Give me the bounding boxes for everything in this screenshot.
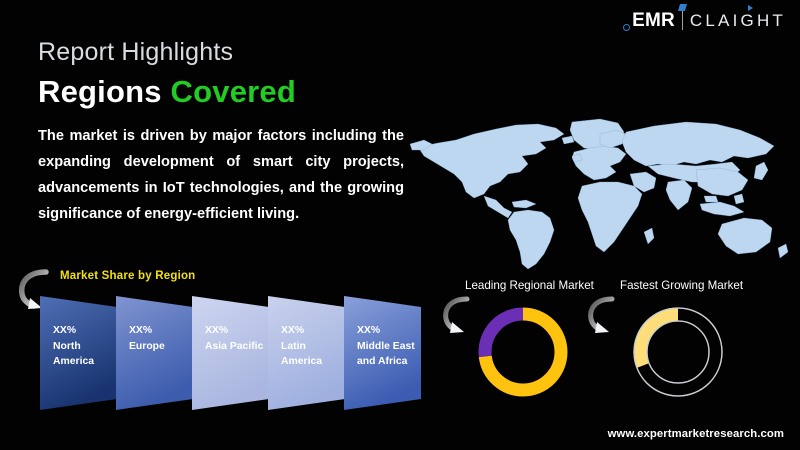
brand-logo: EMR CLAIGHT <box>632 8 786 32</box>
page-title: Regions Covered <box>38 74 296 110</box>
footer-website-url[interactable]: www.expertmarketresearch.com <box>608 428 784 440</box>
logo-dot-icon <box>623 24 630 31</box>
region-block-asia-pacific[interactable]: XX% Asia Pacific <box>192 296 276 410</box>
leading-regional-market-title: Leading Regional Market <box>465 279 594 292</box>
region-name: Asia Pacific <box>205 341 263 352</box>
market-share-label: Market Share by Region <box>60 270 195 282</box>
region-name: North America <box>53 341 94 368</box>
logo-emr-text: EMR <box>632 11 675 30</box>
page-kicker: Report Highlights <box>38 38 233 67</box>
curved-arrow-icon <box>588 296 624 341</box>
donut-segment-highlight <box>641 315 716 390</box>
donut-chart-leading-regional-market[interactable] <box>473 302 573 407</box>
region-block-middle-east-africa[interactable]: XX% Middle East and Africa <box>344 296 428 410</box>
region-block-label: XX% Europe <box>129 323 191 354</box>
region-value: XX% <box>281 323 343 339</box>
summary-paragraph: The market is driven by major factors in… <box>38 123 404 227</box>
region-value: XX% <box>129 323 191 339</box>
fastest-growing-market-title: Fastest Growing Market <box>620 279 743 292</box>
region-value: XX% <box>357 323 419 339</box>
region-value: XX% <box>53 323 115 339</box>
region-name: Europe <box>129 341 165 352</box>
world-map-svg <box>404 112 796 270</box>
region-name: Latin America <box>281 341 322 368</box>
donut-chart-fastest-growing-market[interactable] <box>628 302 728 407</box>
page-title-plain: Regions <box>38 74 162 109</box>
region-block-latin-america[interactable]: XX% Latin America <box>268 296 352 410</box>
region-block-north-america[interactable]: XX% North America <box>40 296 124 410</box>
region-block-europe[interactable]: XX% Europe <box>116 296 200 410</box>
region-share-chart: XX% North America XX% Europe <box>40 296 420 410</box>
logo-spark-icon <box>678 4 687 11</box>
donut-inner-ring-overlay <box>647 321 709 383</box>
region-name: Middle East and Africa <box>357 341 415 368</box>
region-block-label: XX% Asia Pacific <box>205 323 267 354</box>
page-title-accent: Covered <box>171 74 296 109</box>
logo-claight-text: CLAIGHT <box>690 12 786 29</box>
region-value: XX% <box>205 323 267 339</box>
region-block-label: XX% Latin America <box>281 323 343 370</box>
logo-divider <box>682 10 683 30</box>
world-map <box>404 112 796 270</box>
region-block-label: XX% North America <box>53 323 115 370</box>
slide-canvas: EMR CLAIGHT Report Highlights Regions Co… <box>0 0 800 450</box>
logo-arrow-icon <box>748 5 753 11</box>
region-block-label: XX% Middle East and Africa <box>357 323 419 370</box>
